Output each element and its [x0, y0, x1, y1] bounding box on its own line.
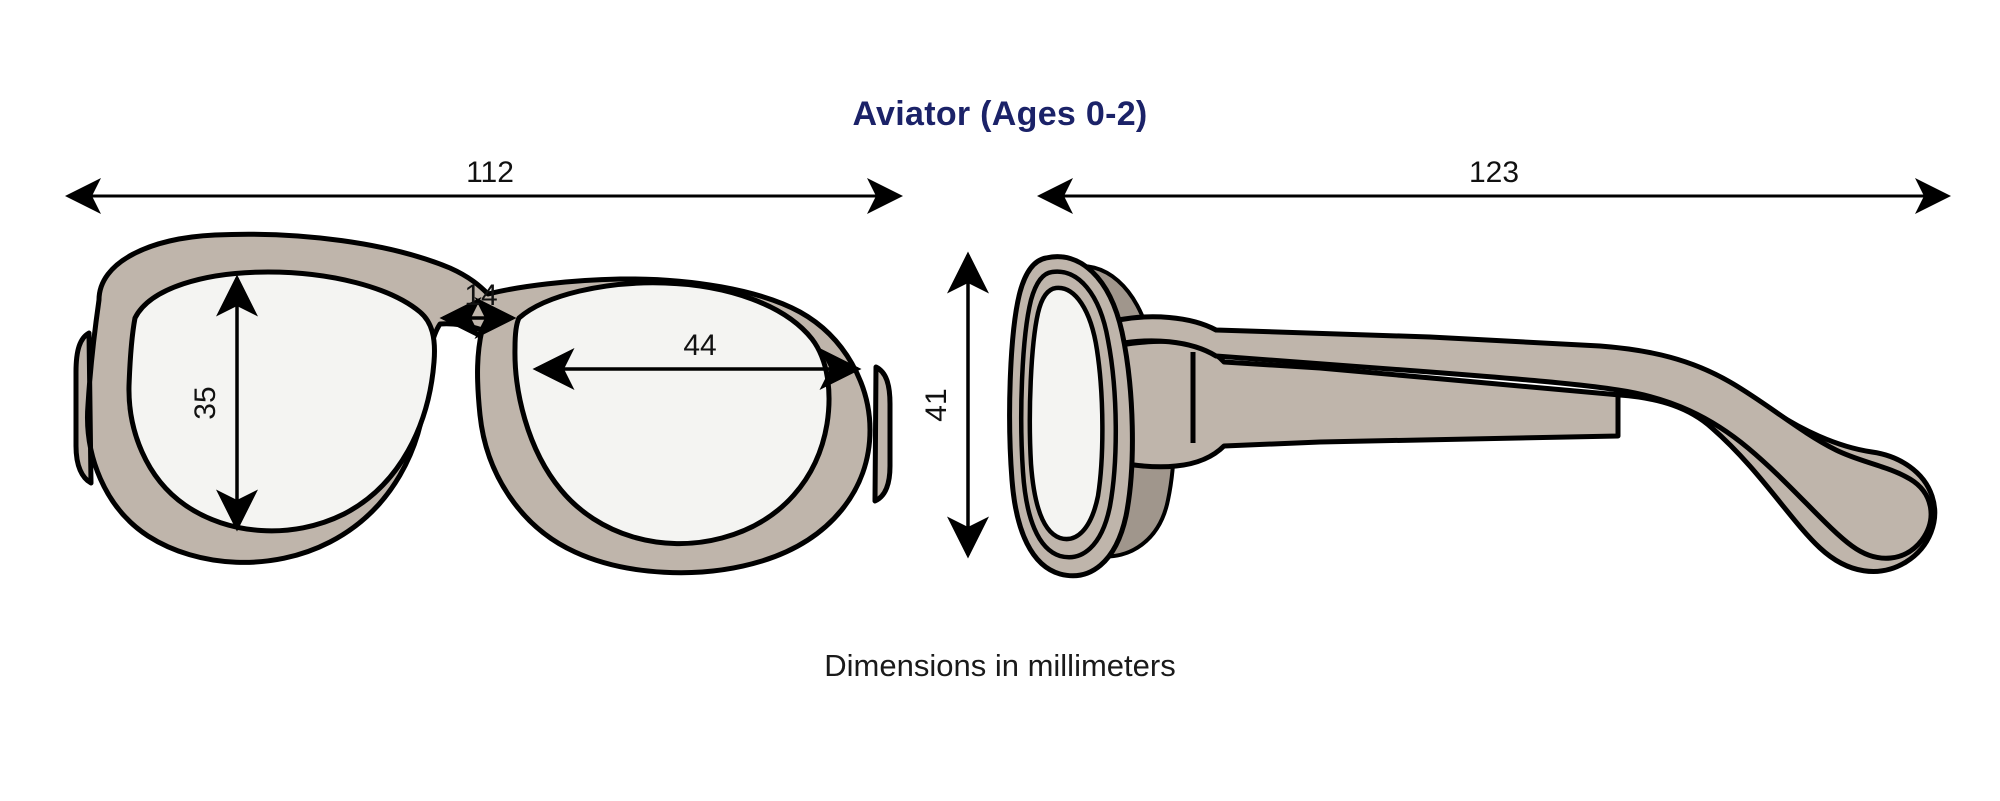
side-lens: [1030, 288, 1103, 539]
frame-height-label: 41: [920, 388, 953, 421]
units-caption: Dimensions in millimeters: [824, 648, 1175, 683]
bridge-width-label: 14: [464, 279, 497, 312]
diagram-canvas: Aviator (Ages 0-2) 112 14 44: [0, 0, 2000, 801]
lens-width-label: 44: [683, 329, 716, 362]
lens-height-label: 35: [189, 386, 222, 419]
sunglasses-dimension-diagram: Aviator (Ages 0-2) 112 14 44: [0, 0, 2000, 801]
temple-length-label: 123: [1469, 156, 1519, 189]
overall-width-label: 112: [466, 156, 514, 189]
page-title: Aviator (Ages 0-2): [852, 95, 1147, 133]
